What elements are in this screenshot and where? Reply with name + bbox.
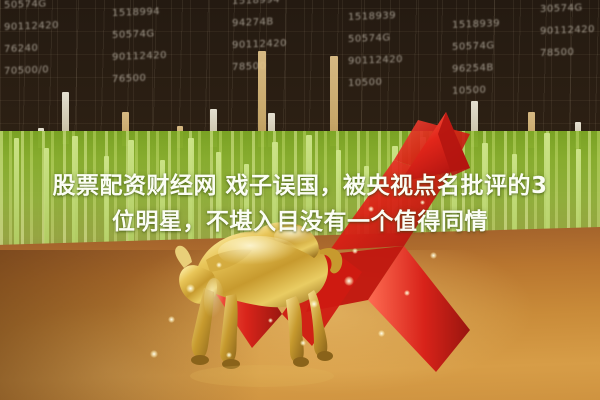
news-thumbnail-image: 50574G 90112420 76240 70500/0 1518994 50… (0, 0, 600, 400)
headline-text: 股票配资财经网 戏子误国，被央视点名批评的3 位明星，不堪入目没有一个值得同情 (0, 168, 600, 240)
headline-line-2: 位明星，不堪入目没有一个值得同情 (14, 204, 586, 240)
headline-line-1: 股票配资财经网 戏子误国，被央视点名批评的3 (14, 168, 586, 204)
